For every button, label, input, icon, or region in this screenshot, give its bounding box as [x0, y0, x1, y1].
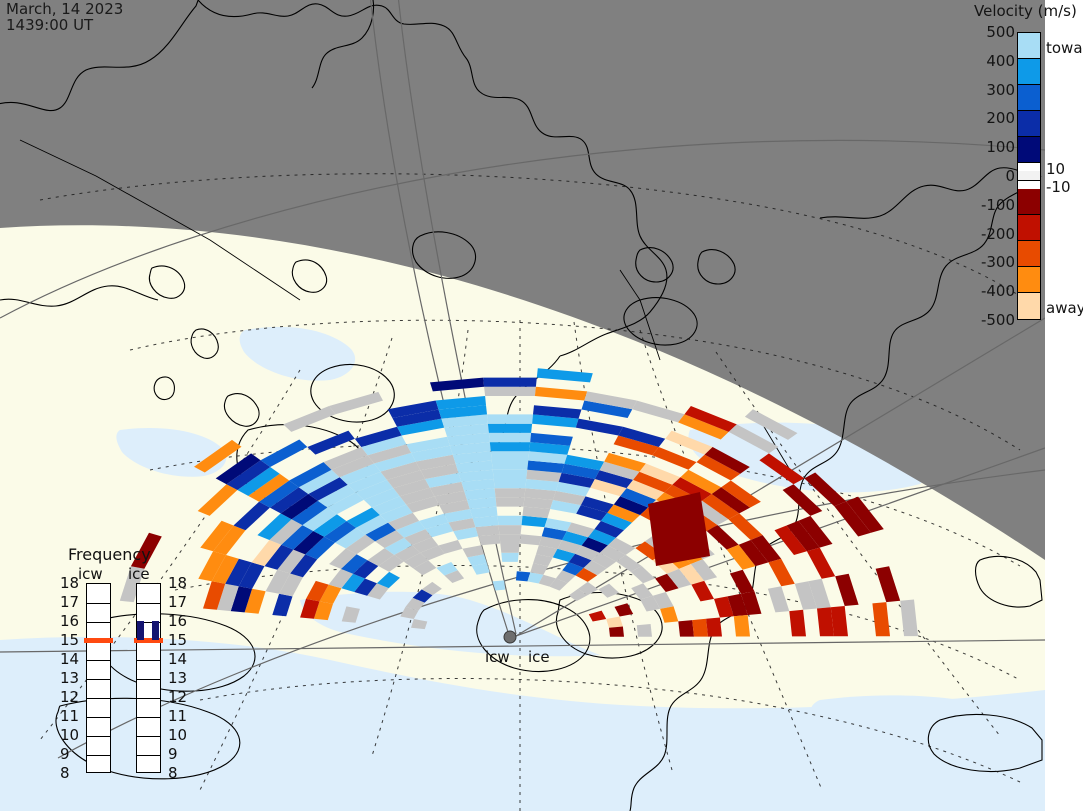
frequency-tick-line	[137, 698, 160, 699]
frequency-tick-line	[87, 622, 110, 623]
frequency-label-ice: ice	[128, 565, 150, 583]
colorbar-tick: -500	[981, 311, 1015, 329]
frequency-tick-line	[87, 736, 110, 737]
colorbar-tick: -300	[981, 253, 1015, 271]
frequency-box-ice[interactable]	[136, 583, 161, 773]
frequency-scale-value: 11	[168, 707, 187, 725]
colorbar-tick: -400	[981, 282, 1015, 300]
site-label-icw: icw	[485, 648, 510, 666]
colorbar-tick: -100	[981, 196, 1015, 214]
ground-scatter-cell	[520, 534, 542, 545]
colorbar-tick: 0	[1005, 167, 1015, 185]
colorbar-segment	[1018, 293, 1040, 319]
colorbar-tick: 400	[986, 52, 1015, 70]
radar-fan-plot: icw ice March, 14 20231439:00 UT Frequen…	[0, 0, 1083, 811]
frequency-tick-line	[137, 660, 160, 661]
ground-scatter-cell	[500, 544, 519, 553]
colorbar-segment	[1018, 241, 1040, 267]
frequency-title: Frequency	[68, 545, 151, 564]
frequency-label-icw: icw	[78, 565, 103, 583]
colorbar-center-high-label: 10	[1046, 160, 1065, 178]
frequency-scale-value: 8	[60, 764, 70, 782]
radar-site-marker[interactable]	[504, 631, 516, 643]
frequency-marker-icw	[84, 638, 113, 643]
frequency-scale-value: 17	[60, 593, 79, 611]
frequency-block-ice-right	[152, 621, 159, 640]
frequency-tick-line	[87, 660, 110, 661]
frequency-scale-value: 9	[168, 745, 178, 763]
colorbar-tick: 200	[986, 109, 1015, 127]
colorbar-tick: 500	[986, 23, 1015, 41]
velocity-cell	[498, 516, 523, 525]
colorbar-center-low-label: -10	[1046, 178, 1071, 196]
velocity-cell	[487, 414, 533, 423]
frequency-panel: Frequency icw ice 18171615141312111098 1…	[52, 545, 192, 790]
frequency-tick-line	[87, 755, 110, 756]
velocity-cell	[706, 618, 722, 637]
frequency-scale-value: 18	[60, 574, 79, 592]
frequency-tick-line	[87, 679, 110, 680]
site-label-ice: ice	[528, 648, 550, 666]
frequency-scale-value: 18	[168, 574, 187, 592]
colorbar-tick: 100	[986, 138, 1015, 156]
velocity-cell	[491, 451, 529, 460]
velocity-cell	[493, 470, 528, 479]
frequency-tick-line	[137, 717, 160, 718]
frequency-scale-value: 15	[60, 631, 79, 649]
velocity-cell	[483, 378, 537, 387]
timestamp-time: 1439:00 UT	[6, 16, 93, 34]
colorbar-segment	[1018, 111, 1040, 137]
velocity-cell	[678, 620, 694, 637]
colorbar-segment	[1018, 215, 1040, 241]
frequency-box-icw[interactable]	[86, 583, 111, 773]
frequency-tick-line	[137, 736, 160, 737]
ground-scatter-cell	[637, 624, 652, 637]
colorbar-segment	[1018, 59, 1040, 85]
velocity-cell	[494, 479, 527, 488]
frequency-tick-line	[87, 717, 110, 718]
frequency-tick-line	[87, 698, 110, 699]
velocity-cell	[789, 610, 806, 637]
velocity-cell	[501, 553, 518, 562]
ground-scatter-cell	[499, 534, 520, 543]
frequency-scale-value: 14	[168, 650, 187, 668]
frequency-scale-value: 8	[168, 764, 178, 782]
frequency-scale-value: 11	[60, 707, 79, 725]
velocity-cell	[490, 442, 530, 451]
colorbar: Velocity (m/s) 5004003002001000-100-200-…	[968, 0, 1083, 340]
frequency-scale-value: 10	[60, 726, 79, 744]
velocity-cell	[734, 615, 750, 637]
frequency-scale-value: 17	[168, 593, 187, 611]
velocity-cell	[609, 627, 624, 637]
frequency-tick-line	[137, 603, 160, 604]
frequency-scale-value: 10	[168, 726, 187, 744]
colorbar-segment	[1018, 189, 1040, 215]
colorbar-segment	[1018, 267, 1040, 293]
colorbar-tick: 300	[986, 81, 1015, 99]
colorbar-away-label: away	[1046, 299, 1083, 317]
frequency-scale-value: 14	[60, 650, 79, 668]
velocity-cell	[492, 461, 529, 470]
colorbar-toward-label: toward	[1046, 39, 1083, 57]
velocity-cell	[488, 424, 532, 433]
frequency-scale-value: 12	[168, 688, 187, 706]
ground-scatter-cell	[498, 525, 521, 534]
velocity-cell	[648, 492, 710, 566]
frequency-scale-value: 16	[60, 612, 79, 630]
velocity-cell	[692, 619, 708, 637]
frequency-block-ice-left	[137, 621, 144, 640]
colorbar-title: Velocity (m/s)	[974, 2, 1083, 20]
map-canvas[interactable]: icw ice March, 14 20231439:00 UT Frequen…	[0, 0, 1045, 811]
frequency-scale-value: 9	[60, 745, 70, 763]
ground-scatter-cell	[496, 497, 525, 506]
colorbar-gradient[interactable]	[1017, 32, 1041, 320]
colorbar-tick: -200	[981, 225, 1015, 243]
ground-scatter-cell	[478, 534, 500, 545]
ground-scatter-cell	[495, 488, 526, 497]
colorbar-segment	[1018, 85, 1040, 111]
ground-scatter-cell	[484, 387, 536, 396]
frequency-scale-value: 15	[168, 631, 187, 649]
timestamp-block: March, 14 20231439:00 UT	[6, 1, 123, 33]
frequency-tick-line	[137, 755, 160, 756]
colorbar-segment	[1018, 33, 1040, 59]
frequency-scale-value: 13	[168, 669, 187, 687]
colorbar-segment	[1018, 137, 1040, 163]
colorbar-zero-band	[1018, 171, 1040, 182]
frequency-scale-value: 16	[168, 612, 187, 630]
frequency-scale-value: 12	[60, 688, 79, 706]
frequency-tick-line	[87, 603, 110, 604]
velocity-cell	[489, 433, 531, 442]
frequency-scale-value: 13	[60, 669, 79, 687]
frequency-tick-line	[137, 679, 160, 680]
